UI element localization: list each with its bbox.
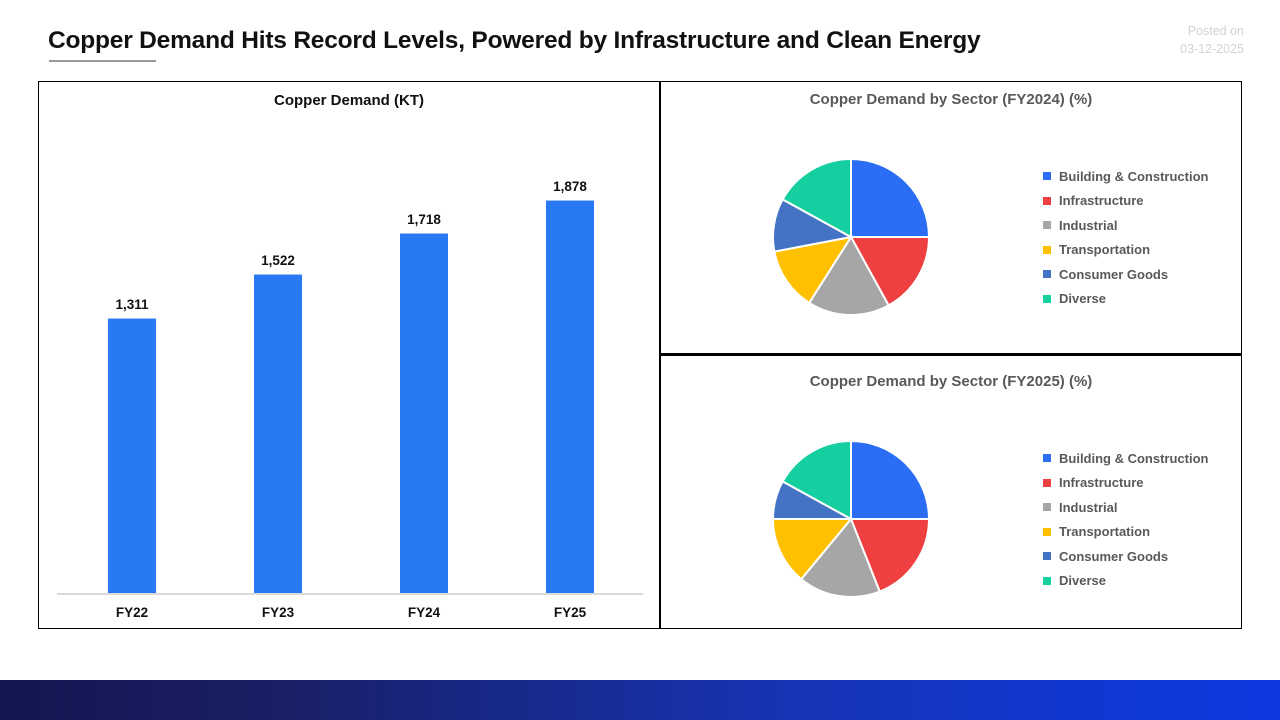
- legend-item[interactable]: Building & Construction: [1043, 164, 1208, 189]
- bar-fy23[interactable]: [254, 274, 302, 593]
- legend-item[interactable]: Transportation: [1043, 520, 1208, 545]
- legend-item[interactable]: Consumer Goods: [1043, 262, 1208, 287]
- legend-swatch-icon: [1043, 172, 1051, 180]
- bar-value-label: 1,878: [553, 179, 587, 194]
- legend-swatch-icon: [1043, 503, 1051, 511]
- pie-slice[interactable]: [851, 159, 929, 237]
- pie-chart-fy2025: Copper Demand by Sector (FY2025) (%) 25%…: [661, 354, 1241, 624]
- legend-label: Building & Construction: [1059, 451, 1208, 466]
- pie-chart-fy2024: Copper Demand by Sector (FY2024) (%) 25%…: [661, 82, 1241, 352]
- legend-swatch-icon: [1043, 197, 1051, 205]
- legend-label: Consumer Goods: [1059, 267, 1168, 282]
- legend-label: Transportation: [1059, 524, 1150, 539]
- pie-svg: [769, 437, 933, 601]
- legend-label: Transportation: [1059, 242, 1150, 257]
- legend-label: Infrastructure: [1059, 475, 1144, 490]
- legend-item[interactable]: Building & Construction: [1043, 446, 1208, 471]
- legend-item[interactable]: Infrastructure: [1043, 189, 1208, 214]
- bar-category-label: FY24: [408, 605, 440, 620]
- header: Copper Demand Hits Record Levels, Powere…: [0, 0, 1280, 72]
- bar-category-label: FY25: [554, 605, 586, 620]
- legend-swatch-icon: [1043, 552, 1051, 560]
- legend-swatch-icon: [1043, 246, 1051, 254]
- legend-item[interactable]: Industrial: [1043, 495, 1208, 520]
- legend-swatch-icon: [1043, 454, 1051, 462]
- legend-label: Diverse: [1059, 291, 1106, 306]
- bar-chart-panel: Copper Demand (KT) 1,311FY221,522FY231,7…: [38, 81, 660, 629]
- legend-swatch-icon: [1043, 270, 1051, 278]
- pie-slice[interactable]: [851, 441, 929, 519]
- legend-label: Building & Construction: [1059, 169, 1208, 184]
- legend-label: Industrial: [1059, 218, 1118, 233]
- pie-chart-fy2025-title: Copper Demand by Sector (FY2025) (%): [661, 373, 1241, 390]
- legend-swatch-icon: [1043, 221, 1051, 229]
- legend-label: Diverse: [1059, 573, 1106, 588]
- legend-label: Consumer Goods: [1059, 549, 1168, 564]
- slide-canvas: Copper Demand Hits Record Levels, Powere…: [0, 0, 1280, 720]
- pie-chart-fy2024-title: Copper Demand by Sector (FY2024) (%): [661, 91, 1241, 108]
- legend-swatch-icon: [1043, 295, 1051, 303]
- bar-group: 1,522FY23: [205, 82, 351, 628]
- bar-category-label: FY23: [262, 605, 294, 620]
- legend-swatch-icon: [1043, 528, 1051, 536]
- posted-on-block: Posted on 03-12-2025: [1180, 22, 1244, 58]
- legend-label: Industrial: [1059, 500, 1118, 515]
- bar-value-label: 1,718: [407, 212, 441, 227]
- legend-item[interactable]: Consumer Goods: [1043, 544, 1208, 569]
- pie-legend: Building & ConstructionInfrastructureInd…: [1043, 164, 1208, 311]
- legend-item[interactable]: Diverse: [1043, 569, 1208, 594]
- legend-swatch-icon: [1043, 577, 1051, 585]
- bar-group: 1,311FY22: [59, 82, 205, 628]
- posted-on-label: Posted on: [1180, 22, 1244, 40]
- posted-on-date: 03-12-2025: [1180, 40, 1244, 58]
- bar-category-label: FY22: [116, 605, 148, 620]
- legend-item[interactable]: Infrastructure: [1043, 471, 1208, 496]
- bar-group: 1,878FY25: [497, 82, 643, 628]
- pie-legend: Building & ConstructionInfrastructureInd…: [1043, 446, 1208, 593]
- bar-value-label: 1,311: [115, 297, 148, 312]
- page-title: Copper Demand Hits Record Levels, Powere…: [48, 27, 980, 55]
- pie-svg: [769, 155, 933, 319]
- bar-group: 1,718FY24: [351, 82, 497, 628]
- bar-fy25[interactable]: [546, 200, 594, 593]
- legend-swatch-icon: [1043, 479, 1051, 487]
- legend-item[interactable]: Industrial: [1043, 213, 1208, 238]
- footer-note-row: Disclaimer: https://sam-co.in/6j Note: K…: [0, 638, 1280, 678]
- legend-label: Infrastructure: [1059, 193, 1144, 208]
- bar-fy24[interactable]: [400, 233, 448, 593]
- bar-chart-plot: 1,311FY221,522FY231,718FY241,878FY25: [39, 82, 659, 628]
- legend-item[interactable]: Diverse: [1043, 287, 1208, 312]
- bottom-brand-bar: #SAMSHOTS SAMCO: [0, 680, 1280, 720]
- panel-divider: [660, 353, 1242, 356]
- bar-fy22[interactable]: [108, 318, 156, 593]
- legend-item[interactable]: Transportation: [1043, 238, 1208, 263]
- bar-value-label: 1,522: [261, 253, 295, 268]
- title-underline-accent: [49, 60, 156, 62]
